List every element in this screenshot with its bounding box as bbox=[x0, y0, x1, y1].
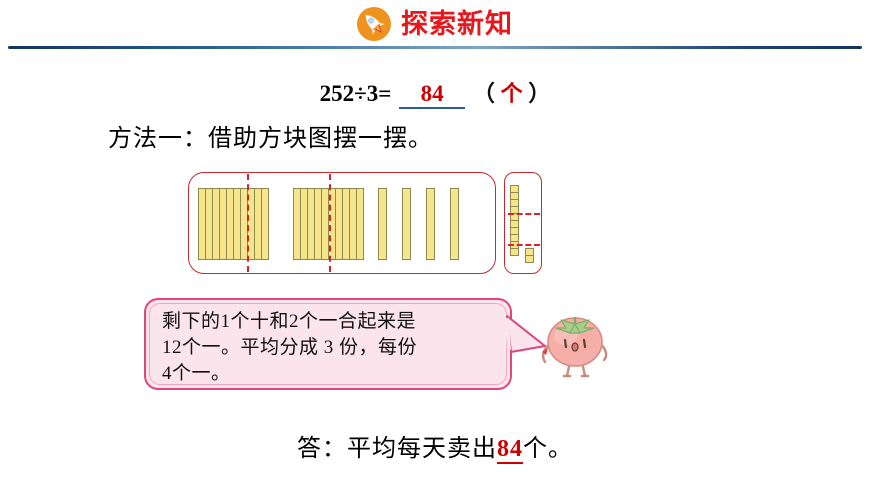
explanation-bubble: 剩下的1个十和2个一合起来是 12个一。平均分成 3 份，每份 4个一。 bbox=[144, 298, 512, 390]
answer-number: 84 bbox=[497, 436, 523, 464]
slide-header: 探索新知 bbox=[0, 0, 870, 48]
unit-square bbox=[525, 255, 534, 263]
equation-row: 252÷3= 84 （ 个 ） bbox=[0, 76, 870, 109]
hundred-block-2 bbox=[293, 188, 363, 260]
bubble-line-3: 4个一。 bbox=[162, 361, 496, 387]
page-title: 探索新知 bbox=[401, 11, 513, 38]
ten-bar bbox=[426, 188, 435, 260]
bubble-line-1: 剩下的1个十和2个一合起来是 bbox=[162, 309, 496, 335]
hundred-block-1 bbox=[198, 188, 268, 260]
equation-unit: 个 bbox=[501, 81, 523, 106]
ten-bar bbox=[450, 188, 459, 260]
answer-line: 答：平均每天卖出84个。 bbox=[0, 428, 870, 463]
rocket-icon bbox=[357, 7, 391, 41]
units-split-dash-1 bbox=[508, 213, 540, 215]
tomato-character bbox=[536, 300, 614, 380]
header-divider bbox=[8, 46, 862, 49]
equation-answer-blank[interactable]: 84 bbox=[399, 81, 465, 109]
hundred-bar bbox=[261, 188, 269, 260]
equation-expression: 252÷3= bbox=[320, 81, 392, 106]
answer-prefix: 答：平均每天卖出 bbox=[297, 436, 497, 462]
unit-square bbox=[510, 248, 519, 256]
group-split-dash-2 bbox=[329, 174, 331, 272]
units-split-dash-2 bbox=[508, 244, 540, 246]
equation-open-paren: （ bbox=[473, 81, 495, 106]
units-extra-column bbox=[525, 248, 534, 262]
ten-bar bbox=[378, 188, 387, 260]
ten-bar bbox=[402, 188, 411, 260]
bubble-line-2: 12个一。平均分成 3 份，每份 bbox=[162, 335, 496, 361]
equation-close-paren: ） bbox=[528, 81, 550, 106]
method-label: 方法一：借助方块图摆一摆。 bbox=[108, 118, 433, 153]
answer-suffix: 个。 bbox=[523, 436, 573, 462]
hundred-bar bbox=[356, 188, 364, 260]
group-split-dash-1 bbox=[247, 174, 249, 272]
place-value-block-diagram bbox=[188, 172, 538, 282]
